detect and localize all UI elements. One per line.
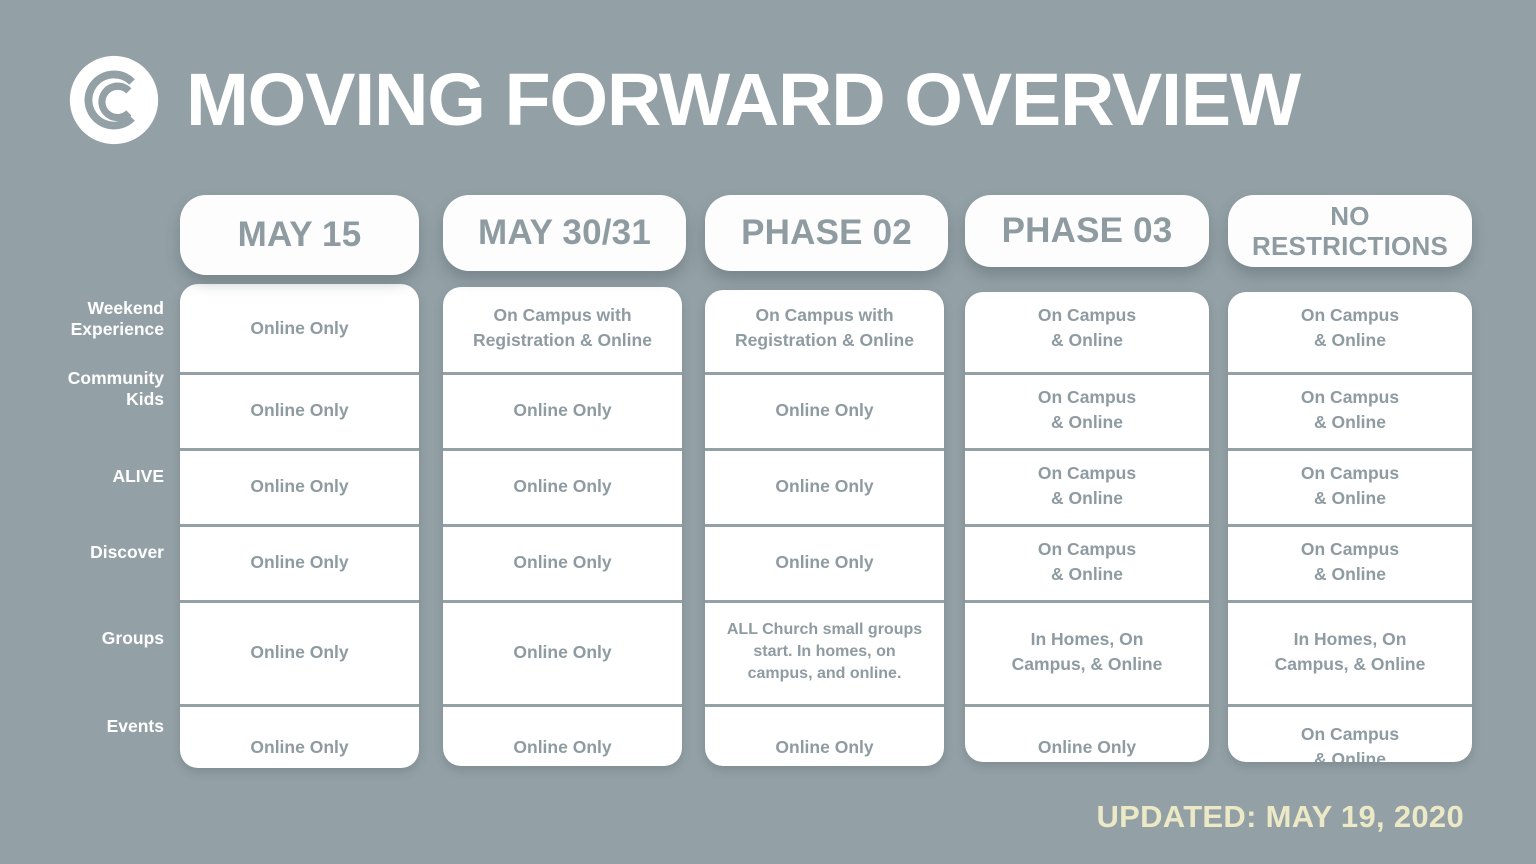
column-header-label: PHASE 02 <box>741 214 912 252</box>
column-header-phase-03[interactable]: PHASE 03 <box>965 195 1209 267</box>
column-body: On Campus& OnlineOn Campus& OnlineOn Cam… <box>965 292 1209 762</box>
table-cell: On Campus& Online <box>965 448 1209 524</box>
cell-text: Online Only <box>250 316 348 341</box>
table-cell: In Homes, OnCampus, & Online <box>965 600 1209 704</box>
row-label-weekend-experience: WeekendExperience <box>0 298 164 340</box>
table-cell: Online Only <box>443 372 682 448</box>
column-header-label: PHASE 03 <box>1002 212 1173 250</box>
table-cell: Online Only <box>180 524 419 600</box>
infographic-root: MOVING FORWARD OVERVIEW WeekendExperienc… <box>0 0 1536 864</box>
cell-text: Online Only <box>775 398 873 423</box>
cell-text: On Campus& Online <box>1301 461 1399 511</box>
table-cell: On Campus& Online <box>1228 292 1472 372</box>
row-label-groups: Groups <box>0 628 164 649</box>
column-header-may-15[interactable]: MAY 15 <box>180 195 419 275</box>
row-label-column: WeekendExperienceCommunityKidsALIVEDisco… <box>0 188 172 768</box>
row-label-alive: ALIVE <box>0 466 164 487</box>
cell-text: Online Only <box>513 550 611 575</box>
table-cell: Online Only <box>705 372 944 448</box>
table-cell: Online Only <box>443 448 682 524</box>
cell-text: Online Only <box>513 735 611 760</box>
cell-text: Online Only <box>775 735 873 760</box>
column-body: On Campus& OnlineOn Campus& OnlineOn Cam… <box>1228 292 1472 762</box>
cell-text: Online Only <box>775 474 873 499</box>
page-title: MOVING FORWARD OVERVIEW <box>186 63 1300 137</box>
cell-text: ALL Church small groupsstart. In homes, … <box>727 619 922 685</box>
column-body: On Campus withRegistration & OnlineOnlin… <box>443 287 682 766</box>
circular-c-logo-icon <box>68 54 160 146</box>
cell-text: Online Only <box>250 640 348 665</box>
column-header-may-30-31[interactable]: MAY 30/31 <box>443 195 686 271</box>
table-cell: Online Only <box>443 524 682 600</box>
cell-text: On Campus& Online <box>1038 385 1136 435</box>
cell-text: On Campus& Online <box>1301 537 1399 587</box>
table-cell: On Campus& Online <box>965 524 1209 600</box>
table-cell: On Campus& Online <box>965 292 1209 372</box>
table-cell: ALL Church small groupsstart. In homes, … <box>705 600 944 704</box>
cell-text: Online Only <box>775 550 873 575</box>
table-cell: Online Only <box>443 600 682 704</box>
row-label-community-kids: CommunityKids <box>0 368 164 410</box>
cell-text: Online Only <box>250 398 348 423</box>
column-header-label: MAY 30/31 <box>478 214 651 252</box>
table-cell: On Campus withRegistration & Online <box>443 287 682 372</box>
table-cell: Online Only <box>180 284 419 372</box>
comparison-table: WeekendExperienceCommunityKidsALIVEDisco… <box>0 188 1536 768</box>
cell-text: On Campus& Online <box>1038 303 1136 353</box>
cell-text: In Homes, OnCampus, & Online <box>1275 627 1426 677</box>
column-body: On Campus withRegistration & OnlineOnlin… <box>705 290 944 766</box>
cell-text: Online Only <box>250 735 348 760</box>
row-label-events: Events <box>0 716 164 737</box>
table-cell: In Homes, OnCampus, & Online <box>1228 600 1472 704</box>
column-body: Online OnlyOnline OnlyOnline OnlyOnline … <box>180 284 419 768</box>
table-cell: Online Only <box>705 704 944 766</box>
cell-text: On Campus& Online <box>1301 722 1399 762</box>
cell-text: Online Only <box>250 550 348 575</box>
table-cell: On Campus& Online <box>1228 704 1472 762</box>
table-cell: On Campus& Online <box>965 372 1209 448</box>
table-cell: Online Only <box>965 704 1209 762</box>
cell-text: On Campus& Online <box>1038 461 1136 511</box>
page-header: MOVING FORWARD OVERVIEW <box>68 48 1278 152</box>
column-header-label: NORESTRICTIONS <box>1252 201 1448 261</box>
cell-text: On Campus withRegistration & Online <box>735 303 914 353</box>
updated-date: UPDATED: MAY 19, 2020 <box>1096 800 1464 834</box>
table-cell: Online Only <box>443 704 682 766</box>
cell-text: On Campus withRegistration & Online <box>473 303 652 353</box>
table-cell: Online Only <box>705 524 944 600</box>
column-header-no-restrictions[interactable]: NORESTRICTIONS <box>1228 195 1472 267</box>
cell-text: On Campus& Online <box>1301 303 1399 353</box>
table-cell: Online Only <box>705 448 944 524</box>
table-cell: Online Only <box>180 704 419 768</box>
table-cell: On Campus& Online <box>1228 372 1472 448</box>
column-header-phase-02[interactable]: PHASE 02 <box>705 195 948 271</box>
cell-text: Online Only <box>250 474 348 499</box>
table-cell: On Campus& Online <box>1228 448 1472 524</box>
row-label-discover: Discover <box>0 542 164 563</box>
table-cell: On Campus& Online <box>1228 524 1472 600</box>
cell-text: On Campus& Online <box>1301 385 1399 435</box>
table-cell: Online Only <box>180 448 419 524</box>
cell-text: Online Only <box>513 398 611 423</box>
cell-text: Online Only <box>1038 735 1136 760</box>
cell-text: Online Only <box>513 640 611 665</box>
cell-text: In Homes, OnCampus, & Online <box>1012 627 1163 677</box>
cell-text: On Campus& Online <box>1038 537 1136 587</box>
table-cell: On Campus withRegistration & Online <box>705 290 944 372</box>
table-cell: Online Only <box>180 600 419 704</box>
cell-text: Online Only <box>513 474 611 499</box>
column-header-label: MAY 15 <box>238 216 362 254</box>
table-cell: Online Only <box>180 372 419 448</box>
